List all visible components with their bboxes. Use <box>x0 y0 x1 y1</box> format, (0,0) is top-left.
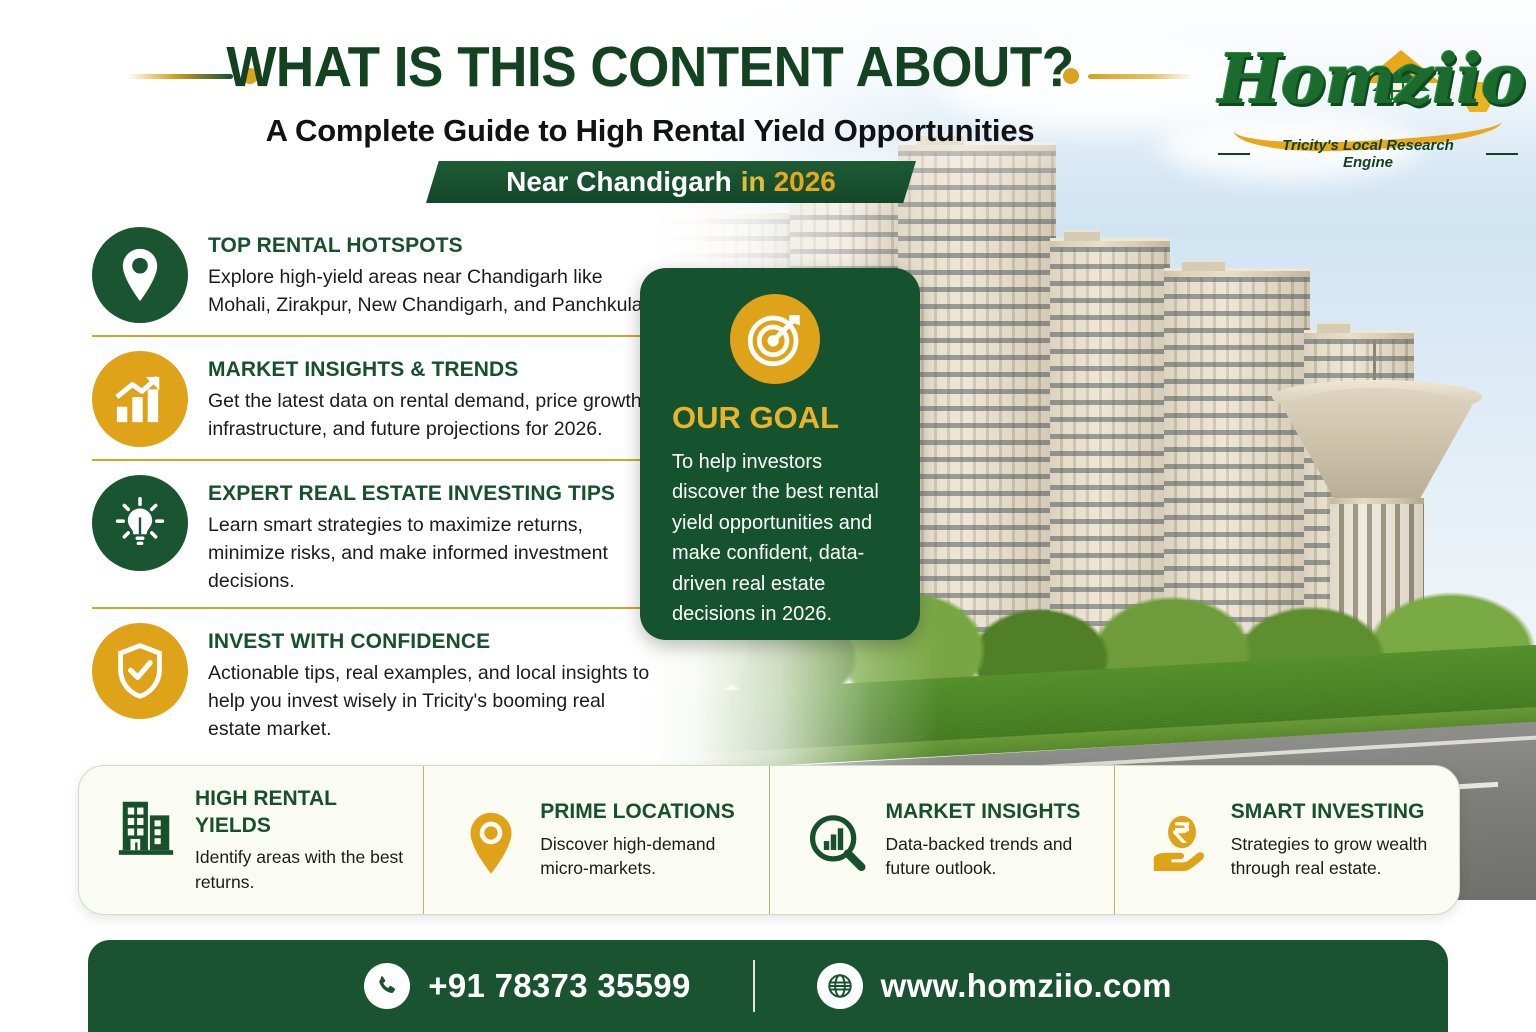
rule-left-icon <box>1218 153 1250 155</box>
location-pin-icon <box>458 810 524 876</box>
magnifier-chart-icon <box>804 810 870 876</box>
ribbon-banner: Near Chandigarh in 2026 <box>426 161 916 203</box>
highlights-strip: HIGH RENTAL YIELDS Identify areas with t… <box>78 765 1460 915</box>
ribbon-year: 2026 <box>774 166 836 198</box>
footer-phone[interactable]: +91 78373 35599 <box>364 963 690 1009</box>
highlight-prime-locations[interactable]: PRIME LOCATIONS Discover high-demand mic… <box>423 766 768 914</box>
header: WHAT IS THIS CONTENT ABOUT? A Complete G… <box>0 0 1536 205</box>
logo-tagline: Tricity's Local Research Engine <box>1260 137 1475 171</box>
our-goal-card: OUR GOAL To help investors discover the … <box>640 268 920 640</box>
rule-right-icon <box>1486 153 1518 155</box>
feature-item-market-insights-trends[interactable]: MARKET INSIGHTS & TRENDS Get the latest … <box>92 335 652 447</box>
highlight-text: Identify areas with the best returns. <box>195 845 415 894</box>
highlight-high-rental-yields[interactable]: HIGH RENTAL YIELDS Identify areas with t… <box>79 786 423 895</box>
ribbon-in: in <box>741 166 766 198</box>
highlight-title: MARKET INSIGHTS <box>886 799 1106 826</box>
feature-text: Actionable tips, real examples, and loca… <box>208 659 652 743</box>
page-subtitle: A Complete Guide to High Rental Yield Op… <box>0 113 1300 149</box>
phone-icon <box>364 963 410 1009</box>
highlight-text: Discover high-demand micro-markets. <box>540 832 760 881</box>
lightbulb-icon <box>92 475 188 571</box>
goal-text: To help investors discover the best rent… <box>672 447 894 629</box>
footer-website[interactable]: www.homziio.com <box>817 963 1172 1009</box>
location-pin-icon <box>92 227 188 323</box>
shield-check-icon <box>92 623 188 719</box>
highlight-text: Strategies to grow wealth through real e… <box>1231 832 1451 881</box>
growth-chart-icon <box>92 351 188 447</box>
highlight-title: SMART INVESTING <box>1231 799 1451 826</box>
highlight-smart-investing[interactable]: SMART INVESTING Strategies to grow wealt… <box>1114 766 1459 914</box>
feature-list: TOP RENTAL HOTSPOTS Explore high-yield a… <box>92 213 652 743</box>
highlight-text: Data-backed trends and future outlook. <box>886 832 1106 881</box>
feature-item-top-rental-hotspots[interactable]: TOP RENTAL HOTSPOTS Explore high-yield a… <box>92 213 652 323</box>
feature-title: TOP RENTAL HOTSPOTS <box>208 234 652 258</box>
target-dart-icon <box>730 294 820 384</box>
highlight-market-insights[interactable]: MARKET INSIGHTS Data-backed trends and f… <box>769 766 1114 914</box>
buildings-icon <box>113 792 179 858</box>
rupee-hand-icon <box>1149 810 1215 876</box>
feature-text: Explore high-yield areas near Chandigarh… <box>208 263 652 319</box>
page-title: WHAT IS THIS CONTENT ABOUT? <box>46 34 1255 100</box>
website-url: www.homziio.com <box>881 967 1172 1005</box>
globe-icon <box>817 963 863 1009</box>
feature-title: INVEST WITH CONFIDENCE <box>208 630 652 654</box>
feature-title: EXPERT REAL ESTATE INVESTING TIPS <box>208 482 652 506</box>
highlight-title: PRIME LOCATIONS <box>540 799 760 826</box>
feature-title: MARKET INSIGHTS & TRENDS <box>208 358 652 382</box>
phone-number: +91 78373 35599 <box>428 967 690 1005</box>
feature-item-expert-investing-tips[interactable]: EXPERT REAL ESTATE INVESTING TIPS Learn … <box>92 459 652 595</box>
contact-footer: +91 78373 35599 www.homziio.com <box>88 940 1448 1032</box>
ribbon-location: Near Chandigarh <box>506 166 732 198</box>
feature-text: Learn smart strategies to maximize retur… <box>208 511 652 595</box>
logo-wordmark: Homziio <box>1218 46 1518 114</box>
footer-divider <box>753 960 755 1012</box>
feature-item-invest-with-confidence[interactable]: INVEST WITH CONFIDENCE Actionable tips, … <box>92 607 652 743</box>
brand-logo[interactable]: Homziio Tricity's Local Research Engine <box>1218 22 1518 167</box>
logo-tagline-row: Tricity's Local Research Engine <box>1218 137 1518 171</box>
highlight-title: HIGH RENTAL YIELDS <box>195 786 415 840</box>
goal-title: OUR GOAL <box>672 400 894 436</box>
feature-text: Get the latest data on rental demand, pr… <box>208 387 652 443</box>
